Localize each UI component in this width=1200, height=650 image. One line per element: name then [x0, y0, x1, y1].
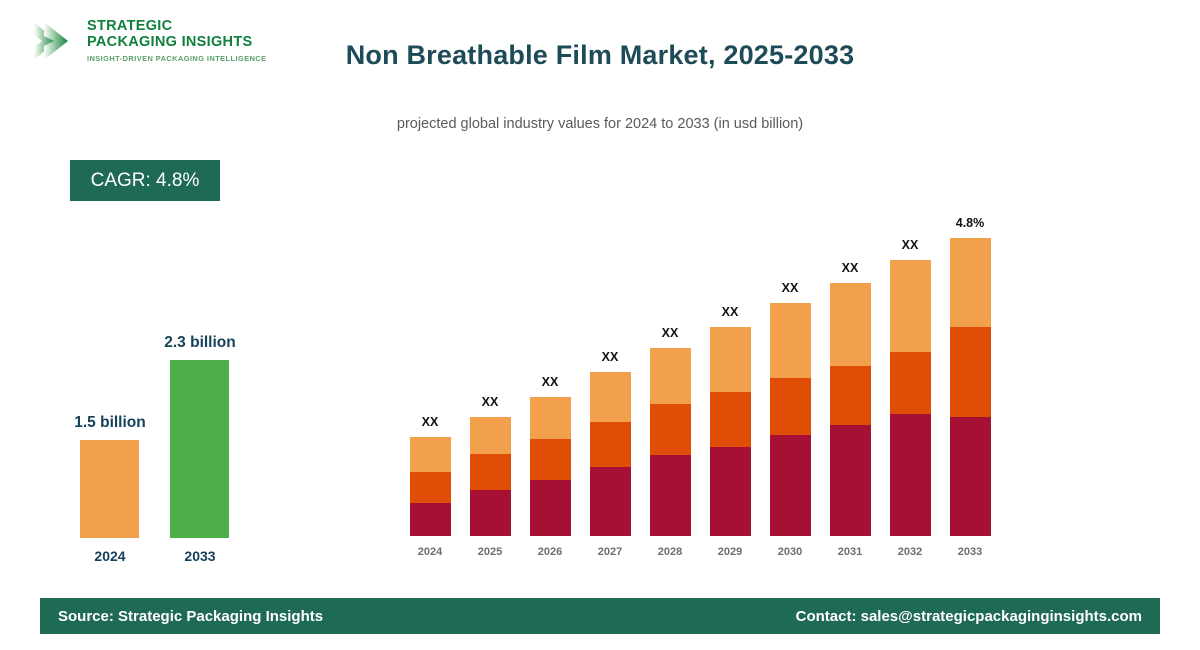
stacked-bar-2032	[890, 260, 931, 536]
cagr-badge: CAGR: 4.8%	[70, 160, 220, 201]
stacked-segment-segment-2-2028	[650, 404, 691, 455]
stacked-segment-segment-2-2025	[470, 454, 511, 490]
stacked-axis-label-2024: 2024	[418, 546, 442, 558]
comparison-value-2033: 2.3 billion	[135, 334, 265, 352]
stacked-bar-label-2025: XX	[482, 395, 499, 409]
stacked-axis-label-2029: 2029	[718, 546, 742, 558]
stacked-bar-label-2029: XX	[722, 305, 739, 319]
stacked-segment-segment-3-2026	[530, 397, 571, 439]
stacked-segment-segment-2-2026	[530, 439, 571, 480]
stacked-segment-segment-1-2031	[830, 425, 871, 536]
stacked-segment-segment-3-2025	[470, 417, 511, 454]
stacked-axis-label-2032: 2032	[898, 546, 922, 558]
comparison-axis-label-2024: 2024	[65, 548, 155, 564]
stacked-segment-segment-1-2024	[410, 503, 451, 536]
comparison-bar-2033	[170, 360, 229, 538]
stacked-bar-2024	[410, 437, 451, 536]
stacked-bar-label-2032: XX	[902, 238, 919, 252]
stacked-segment-segment-3-2029	[710, 327, 751, 392]
stacked-bar-label-2030: XX	[782, 281, 799, 295]
stacked-segment-segment-3-2024	[410, 437, 451, 472]
stacked-segment-segment-1-2030	[770, 435, 811, 536]
stacked-bar-2031	[830, 283, 871, 536]
stacked-segment-segment-1-2028	[650, 455, 691, 536]
stacked-bar-2028	[650, 348, 691, 536]
stacked-segment-segment-2-2031	[830, 366, 871, 425]
stacked-bar-2030	[770, 303, 811, 536]
stacked-bar-label-2024: XX	[422, 415, 439, 429]
stacked-segment-segment-1-2033	[950, 417, 991, 536]
stacked-segment-segment-3-2027	[590, 372, 631, 422]
footer-source: Source: Strategic Packaging Insights	[58, 608, 323, 625]
stacked-bar-label-2033: 4.8%	[956, 216, 985, 230]
stacked-segment-segment-3-2031	[830, 283, 871, 366]
stacked-segment-segment-2-2033	[950, 327, 991, 417]
stacked-segment-segment-3-2032	[890, 260, 931, 352]
stacked-segment-segment-3-2028	[650, 348, 691, 404]
stacked-segment-segment-3-2030	[770, 303, 811, 378]
stacked-bar-label-2028: XX	[662, 326, 679, 340]
comparison-chart: 1.5 billion 2.3 billion 2024 2033	[40, 300, 280, 570]
page-subtitle: projected global industry values for 202…	[0, 116, 1200, 132]
stacked-axis-label-2030: 2030	[778, 546, 802, 558]
stacked-segment-segment-3-2033	[950, 238, 991, 327]
page-title: Non Breathable Film Market, 2025-2033	[0, 40, 1200, 71]
chart-page: STRATEGIC PACKAGING INSIGHTS INSIGHT-DRI…	[0, 0, 1200, 650]
comparison-value-2024: 1.5 billion	[45, 414, 175, 432]
stacked-segment-segment-1-2032	[890, 414, 931, 536]
stacked-bar-2027	[590, 372, 631, 536]
brand-line-1: STRATEGIC	[87, 18, 267, 34]
stacked-bar-2033	[950, 238, 991, 536]
stacked-segment-segment-1-2029	[710, 447, 751, 536]
stacked-segment-segment-1-2025	[470, 490, 511, 536]
stacked-segment-segment-2-2027	[590, 422, 631, 467]
footer-contact: Contact: sales@strategicpackaginginsight…	[796, 608, 1142, 625]
stacked-bar-2025	[470, 417, 511, 536]
stacked-axis-label-2031: 2031	[838, 546, 862, 558]
stacked-segment-segment-2-2030	[770, 378, 811, 435]
stacked-forecast-chart: XX2024XX2025XX2026XX2027XX2028XX2029XX20…	[405, 200, 1005, 560]
stacked-segment-segment-1-2027	[590, 467, 631, 536]
stacked-bar-label-2031: XX	[842, 261, 859, 275]
stacked-segment-segment-2-2029	[710, 392, 751, 447]
footer-bar: Source: Strategic Packaging Insights Con…	[40, 598, 1160, 634]
stacked-bar-2029	[710, 327, 751, 536]
stacked-segment-segment-2-2032	[890, 352, 931, 414]
stacked-bar-label-2027: XX	[602, 350, 619, 364]
comparison-bar-2024	[80, 440, 139, 538]
stacked-segment-segment-1-2026	[530, 480, 571, 536]
stacked-axis-label-2033: 2033	[958, 546, 982, 558]
stacked-axis-label-2027: 2027	[598, 546, 622, 558]
stacked-segment-segment-2-2024	[410, 472, 451, 503]
stacked-axis-label-2025: 2025	[478, 546, 502, 558]
stacked-axis-label-2026: 2026	[538, 546, 562, 558]
stacked-bar-label-2026: XX	[542, 375, 559, 389]
stacked-axis-label-2028: 2028	[658, 546, 682, 558]
comparison-axis-label-2033: 2033	[155, 548, 245, 564]
stacked-bar-2026	[530, 397, 571, 536]
